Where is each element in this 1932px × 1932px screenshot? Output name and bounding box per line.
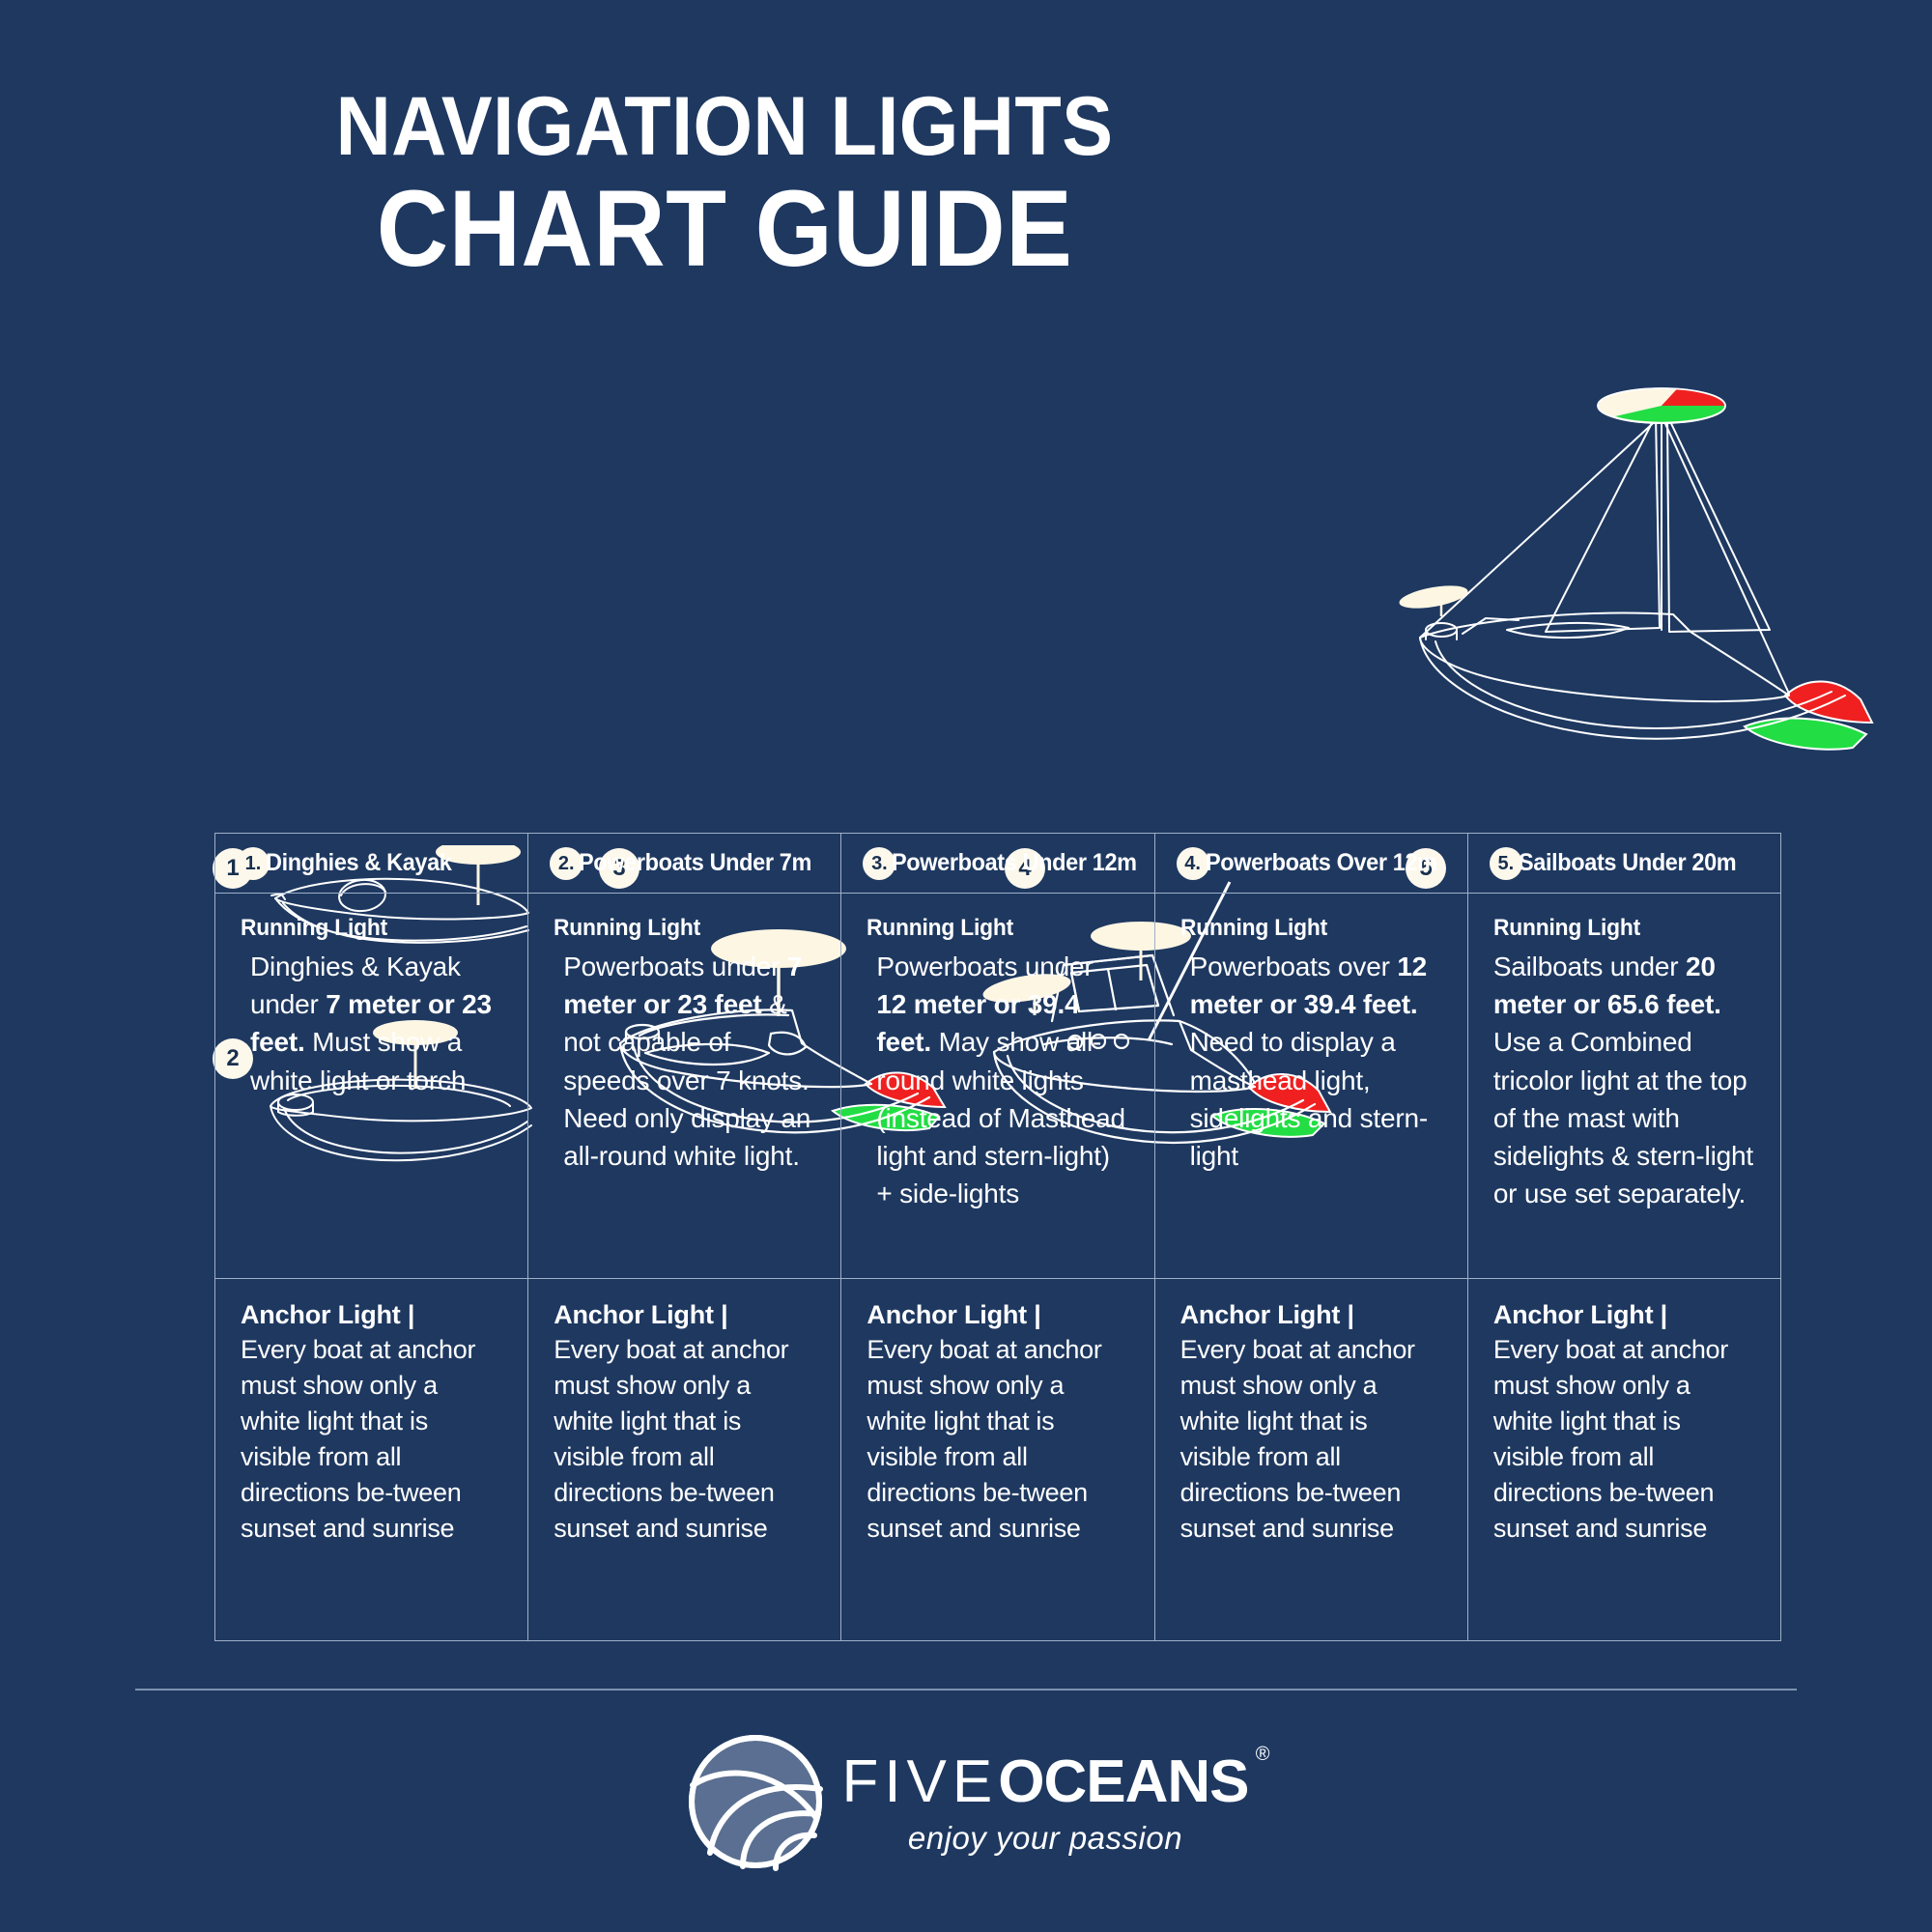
table-header-cell-5: 5. Sailboats Under 20m [1468, 834, 1780, 893]
title-line-2: CHART GUIDE [58, 174, 1391, 284]
anchor-body-4: Every boat at anchor must show only a wh… [1180, 1332, 1442, 1547]
running-body-1: Dinghies & Kayak under 7 meter or 23 fee… [241, 948, 502, 1099]
brand-wordmark: FIVEOCEANS® [841, 1752, 1248, 1812]
running-body-2: Powerboats under 7 meter or 23 feet & no… [554, 948, 815, 1175]
anchor-cell-2: Anchor Light | Every boat at anchor must… [528, 1279, 841, 1640]
anchor-head-5: Anchor Light | [1493, 1300, 1755, 1330]
running-body-5: Sailboats under 20 meter or 65.6 feet. U… [1493, 948, 1755, 1212]
anchor-cell-3: Anchor Light | Every boat at anchor must… [841, 1279, 1154, 1640]
page-title: NAVIGATION LIGHTS CHART GUIDE [0, 85, 1449, 284]
running-head-4: Running Light [1180, 915, 1430, 942]
running-cell-3: Running Light Powerboats under 12 meter … [841, 894, 1154, 1278]
header-label-4: Powerboats Over 12m [1206, 849, 1437, 877]
anchor-body-3: Every boat at anchor must show only a wh… [867, 1332, 1128, 1547]
anchor-body-2: Every boat at anchor must show only a wh… [554, 1332, 815, 1547]
brand-five: FIVE [841, 1748, 998, 1815]
running-cell-4: Running Light Powerboats over 12 meter o… [1155, 894, 1468, 1278]
header-badge-4: 4. [1177, 847, 1209, 880]
anchor-cell-4: Anchor Light | Every boat at anchor must… [1155, 1279, 1468, 1640]
anchor-head-4: Anchor Light | [1180, 1300, 1442, 1330]
running-head-2: Running Light [554, 915, 803, 942]
header-label-5: Sailboats Under 20m [1519, 849, 1736, 877]
table-header-cell-3: 3. Powerboats Under 12m [841, 834, 1154, 893]
title-line-1: NAVIGATION LIGHTS [58, 85, 1391, 170]
registered-trademark-icon: ® [1256, 1745, 1270, 1764]
footer-divider [135, 1689, 1797, 1690]
stern-white-light-5 [1398, 582, 1469, 612]
five-oceans-logo-icon [683, 1729, 828, 1874]
header-label-3: Powerboats Under 12m [892, 849, 1137, 877]
anchor-head-2: Anchor Light | [554, 1300, 815, 1330]
footer-branding: FIVEOCEANS® enjoy your passion [0, 1729, 1932, 1874]
header-label-1: Dinghies & Kayak [266, 849, 452, 877]
brand-tagline: enjoy your passion [841, 1820, 1248, 1857]
table-header-cell-4: 4. Powerboats Over 12m [1155, 834, 1468, 893]
running-head-3: Running Light [867, 915, 1116, 942]
running-light-row: Running Light Dinghies & Kayak under 7 m… [215, 894, 1780, 1278]
table-header-row: 1. Dinghies & Kayak 2. Powerboats Under … [215, 834, 1780, 894]
anchor-cell-1: Anchor Light | Every boat at anchor must… [215, 1279, 528, 1640]
anchor-body-5: Every boat at anchor must show only a wh… [1493, 1332, 1755, 1547]
header-label-2: Powerboats Under 7m [579, 849, 811, 877]
running-body-4: Powerboats over 12 meter or 39.4 feet. N… [1180, 948, 1442, 1175]
tricolor-masthead-light-5 [1598, 388, 1742, 424]
running-head-1: Running Light [241, 915, 490, 942]
running-cell-1: Running Light Dinghies & Kayak under 7 m… [215, 894, 528, 1278]
running-body-3: Powerboats under 12 meter or 39.4 feet. … [867, 948, 1128, 1212]
anchor-body-1: Every boat at anchor must show only a wh… [241, 1332, 502, 1547]
infographic-page: NAVIGATION LIGHTS CHART GUIDE 1 2 [0, 0, 1932, 1932]
brand-oceans: OCEANS [998, 1748, 1248, 1815]
table-header-cell-2: 2. Powerboats Under 7m [528, 834, 841, 893]
running-head-5: Running Light [1493, 915, 1743, 942]
anchor-light-row: Anchor Light | Every boat at anchor must… [215, 1278, 1780, 1640]
table-header-cell-1: 1. Dinghies & Kayak [215, 834, 528, 893]
header-badge-5: 5. [1490, 847, 1522, 880]
anchor-head-1: Anchor Light | [241, 1300, 502, 1330]
boat-illustrations: 1 2 [0, 406, 1932, 811]
running-cell-2: Running Light Powerboats under 7 meter o… [528, 894, 841, 1278]
header-badge-1: 1. [237, 847, 270, 880]
sailboat-under-20m-illustration [1391, 270, 1893, 811]
starboard-green-sidelight-5 [1745, 719, 1866, 750]
nav-lights-table: 1. Dinghies & Kayak 2. Powerboats Under … [214, 833, 1781, 1641]
running-cell-5: Running Light Sailboats under 20 meter o… [1468, 894, 1780, 1278]
anchor-cell-5: Anchor Light | Every boat at anchor must… [1468, 1279, 1780, 1640]
anchor-head-3: Anchor Light | [867, 1300, 1128, 1330]
